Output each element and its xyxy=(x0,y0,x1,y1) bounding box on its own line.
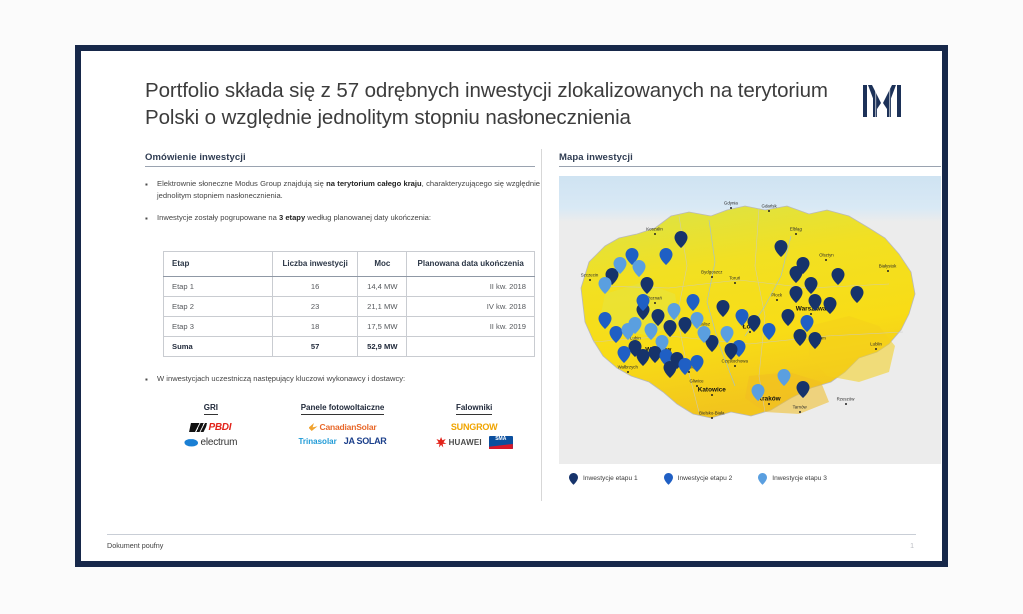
modus-m-logo xyxy=(862,83,906,119)
map-pin-stage-1[interactable] xyxy=(805,277,818,294)
logo-row: electrum xyxy=(184,437,237,448)
city-label: Koszalin xyxy=(646,226,663,231)
bullet-marker: ▪ xyxy=(145,178,157,201)
city-dot xyxy=(734,282,736,284)
legend-pin-icon xyxy=(664,472,673,484)
city-label: Płock xyxy=(771,292,782,297)
supplier-column-inverters: Falowniki SUNGROW HUAWEI xyxy=(408,397,540,449)
city-dot xyxy=(795,233,797,235)
sma-logo-text: SMA xyxy=(495,436,506,442)
map-pin-stage-1[interactable] xyxy=(774,240,787,257)
sma-logo: SMA xyxy=(489,436,513,449)
legend-item-stage-2: Inwestycje etapu 2 xyxy=(664,472,733,484)
slide-page: Portfolio składa się z 57 odrębnych inwe… xyxy=(0,0,1023,614)
sungrow-logo: SUNGROW xyxy=(451,422,498,432)
city-dot xyxy=(875,348,877,350)
city-dot xyxy=(776,299,778,301)
table-cell: 14,4 MW xyxy=(358,277,407,297)
map-pin-stage-2[interactable] xyxy=(690,355,703,372)
table-cell: Etap 1 xyxy=(164,277,273,297)
city-label: Lublin xyxy=(870,341,882,346)
city-dot xyxy=(768,210,770,212)
table-cell: IV kw. 2018 xyxy=(407,297,535,317)
electrum-mark-icon xyxy=(184,439,198,447)
map-pin-stage-2[interactable] xyxy=(686,294,699,311)
map-pin-stage-1[interactable] xyxy=(824,297,837,314)
map-pin-stage-1[interactable] xyxy=(717,300,730,317)
column-divider xyxy=(541,149,542,501)
legend-pin-icon xyxy=(569,472,578,484)
pbdi-logo: PBDI xyxy=(190,422,231,433)
pbdi-mark-icon xyxy=(190,423,208,432)
legend-pin-icon xyxy=(758,472,767,484)
canadiansolar-mark-icon xyxy=(309,423,318,431)
city-dot xyxy=(768,403,770,405)
trinasolar-logo: Trinasolar xyxy=(298,437,336,446)
col-header-data: Planowana data ukończenia xyxy=(407,252,535,277)
city-dot xyxy=(654,233,656,235)
table-header-row: Etap Liczba inwestycji Moc Planowana dat… xyxy=(164,252,535,277)
city-label: Szczecin xyxy=(581,272,599,277)
city-label: Toruń xyxy=(729,275,740,280)
huawei-logo: HUAWEI xyxy=(436,437,482,448)
table-row: Etap 31817,5 MWII kw. 2019 xyxy=(164,317,535,337)
footer-text: Dokument poufny xyxy=(107,541,163,550)
legend-item-stage-3: Inwestycje etapu 3 xyxy=(758,472,827,484)
map-pin-stage-3[interactable] xyxy=(598,277,611,294)
sungrow-logo-text: SUNGROW xyxy=(451,422,498,432)
city-label: Katowice xyxy=(698,386,726,393)
city-label: Wałbrzych xyxy=(618,364,638,369)
map-pin-stage-2[interactable] xyxy=(659,248,672,265)
table-cell: II kw. 2019 xyxy=(407,317,535,337)
map-pin-stage-1[interactable] xyxy=(831,268,844,285)
city-dot xyxy=(825,259,827,261)
city-dot xyxy=(627,371,629,373)
map-pin-stage-2[interactable] xyxy=(763,323,776,340)
bullet-item: ▪ Inwestycje zostały pogrupowane na 3 et… xyxy=(145,212,540,225)
supplier-logos: CanadianSolar Trinasolar JA SOLAR xyxy=(277,422,409,446)
map-pin-stage-2[interactable] xyxy=(598,312,611,329)
table-cell: 17,5 MW xyxy=(358,317,407,337)
jasolar-logo: JA SOLAR xyxy=(344,436,387,446)
slide-canvas: Portfolio składa się z 57 odrębnych inwe… xyxy=(81,51,942,561)
section-header-map: Mapa inwestycji xyxy=(559,152,941,167)
legend-label: Inwestycje etapu 1 xyxy=(583,475,638,482)
city-dot xyxy=(887,270,889,272)
map-pin-stage-1[interactable] xyxy=(782,309,795,326)
map-pin-stage-1[interactable] xyxy=(675,231,688,248)
pbdi-logo-text: PBDI xyxy=(208,422,231,433)
city-dot xyxy=(730,207,732,209)
col-header-liczba: Liczba inwestycji xyxy=(273,252,358,277)
legend-item-stage-1: Inwestycje etapu 1 xyxy=(569,472,638,484)
overview-bullets: ▪ Elektrownie słoneczne Modus Group znaj… xyxy=(145,178,540,236)
map-pin-stage-2[interactable] xyxy=(617,346,630,363)
city-dot xyxy=(711,276,713,278)
logo-row: CanadianSolar xyxy=(309,422,377,432)
city-label: Gdynia xyxy=(724,200,738,205)
map-pin-stage-3[interactable] xyxy=(667,303,680,320)
supplier-column-gri: GRI PBDI electrum xyxy=(145,397,277,449)
city-label: Białystok xyxy=(879,264,897,269)
col-header-moc: Moc xyxy=(358,252,407,277)
map-pin-stage-1[interactable] xyxy=(808,294,821,311)
canadiansolar-logo: CanadianSolar xyxy=(309,422,377,432)
map-pin-stage-1[interactable] xyxy=(797,381,810,398)
city-dot xyxy=(711,394,713,396)
city-dot xyxy=(799,411,801,413)
city-dot xyxy=(589,279,591,281)
bullet-text: Inwestycje zostały pogrupowane na 3 etap… xyxy=(157,212,540,225)
table-summary-cell xyxy=(407,337,535,357)
table-row: Etap 11614,4 MWII kw. 2018 xyxy=(164,277,535,297)
page-number: 1 xyxy=(910,543,914,550)
map-pin-stage-1[interactable] xyxy=(652,309,665,326)
table-cell: 16 xyxy=(273,277,358,297)
city-dot xyxy=(654,302,656,304)
logo-row: PBDI xyxy=(190,422,231,433)
table-summary-row: Suma5752,9 MW xyxy=(164,337,535,357)
suppliers-intro-text: W inwestycjach uczestniczą następujący k… xyxy=(157,373,540,386)
stages-table: Etap Liczba inwestycji Moc Planowana dat… xyxy=(163,251,535,357)
section-header-overview: Omówienie inwestycji xyxy=(145,152,535,167)
map-pin-stage-2[interactable] xyxy=(637,294,650,311)
map-pin-stage-1[interactable] xyxy=(797,257,810,274)
supplier-col-header: GRI xyxy=(204,403,218,415)
map-legend: Inwestycje etapu 1Inwestycje etapu 2Inwe… xyxy=(569,472,941,484)
supplier-logos: SUNGROW HUAWEI SMA xyxy=(408,422,540,449)
city-label: Gdańsk xyxy=(762,203,777,208)
city-label: Tarnów xyxy=(793,405,807,410)
bullet-item: ▪ W inwestycjach uczestniczą następujący… xyxy=(145,373,540,386)
city-label: Gliwice xyxy=(689,379,703,384)
map-pin-stage-1[interactable] xyxy=(724,343,737,360)
trinasolar-logo-text: Trinasolar xyxy=(298,437,336,446)
map-pin-stage-1[interactable] xyxy=(808,332,821,349)
slide-frame: Portfolio składa się z 57 odrębnych inwe… xyxy=(75,45,948,567)
city-label: Olsztyn xyxy=(819,252,834,257)
table-body: Etap 11614,4 MWII kw. 2018Etap 22321,1 M… xyxy=(164,277,535,357)
city-dot xyxy=(845,403,847,405)
page-title: Portfolio składa się z 57 odrębnych inwe… xyxy=(145,77,865,131)
city-dot xyxy=(711,417,713,419)
investment-map[interactable]: SzczecinKoszalinGdyniaGdańskElblągOlszty… xyxy=(559,176,941,464)
map-pin-stage-3[interactable] xyxy=(751,384,764,401)
map-pin-stage-3[interactable] xyxy=(621,323,634,340)
bullet-item: ▪ Elektrownie słoneczne Modus Group znaj… xyxy=(145,178,540,201)
bullet-marker: ▪ xyxy=(145,212,157,225)
table-cell: Etap 3 xyxy=(164,317,273,337)
table-cell: 18 xyxy=(273,317,358,337)
logo-row: Trinasolar JA SOLAR xyxy=(298,436,386,446)
canadiansolar-logo-text: CanadianSolar xyxy=(320,422,377,432)
huawei-logo-text: HUAWEI xyxy=(449,438,482,447)
table-cell: 21,1 MW xyxy=(358,297,407,317)
col-header-etap: Etap xyxy=(164,252,273,277)
supplier-col-header: Falowniki xyxy=(456,403,492,415)
table-cell: II kw. 2018 xyxy=(407,277,535,297)
electrum-logo-text: electrum xyxy=(200,437,237,448)
supplier-column-panels: Panele fotowoltaiczne CanadianSolar xyxy=(277,397,409,449)
legend-label: Inwestycje etapu 2 xyxy=(678,475,733,482)
map-pin-stage-1[interactable] xyxy=(789,286,802,303)
suppliers-block: ▪ W inwestycjach uczestniczą następujący… xyxy=(145,373,540,449)
table-cell: 23 xyxy=(273,297,358,317)
table-summary-cell: 52,9 MW xyxy=(358,337,407,357)
logo-row: SUNGROW xyxy=(451,422,498,432)
map-pin-stage-3[interactable] xyxy=(778,369,791,386)
map-pin-stage-3[interactable] xyxy=(698,326,711,343)
bullet-marker: ▪ xyxy=(145,373,157,386)
map-pin-stage-1[interactable] xyxy=(850,286,863,303)
supplier-logos: PBDI electrum xyxy=(145,422,277,448)
map-pin-stage-3[interactable] xyxy=(633,260,646,277)
table-cell: Etap 2 xyxy=(164,297,273,317)
city-label: Bydgoszcz xyxy=(701,269,722,274)
table-summary-cell: Suma xyxy=(164,337,273,357)
electrum-logo: electrum xyxy=(184,437,237,448)
map-pin-stage-1[interactable] xyxy=(747,315,760,332)
bullet-text: Elektrownie słoneczne Modus Group znajdu… xyxy=(157,178,540,201)
huawei-flower-icon xyxy=(436,437,447,448)
city-label: Bielsko-Biała xyxy=(699,410,724,415)
table-summary-cell: 57 xyxy=(273,337,358,357)
map-pin-stage-1[interactable] xyxy=(640,277,653,294)
table-row: Etap 22321,1 MWIV kw. 2018 xyxy=(164,297,535,317)
legend-label: Inwestycje etapu 3 xyxy=(772,475,827,482)
supplier-col-header: Panele fotowoltaiczne xyxy=(301,403,385,415)
supplier-columns: GRI PBDI electrum xyxy=(145,397,540,449)
table-header: Etap Liczba inwestycji Moc Planowana dat… xyxy=(164,252,535,277)
map-pin-stage-1[interactable] xyxy=(793,329,806,346)
map-pin-stage-1[interactable] xyxy=(663,361,676,378)
footer-divider xyxy=(107,534,916,535)
city-label: Elbląg xyxy=(790,226,802,231)
city-dot xyxy=(734,365,736,367)
city-label: Rzeszów xyxy=(837,396,855,401)
logo-row: HUAWEI SMA xyxy=(436,436,513,449)
